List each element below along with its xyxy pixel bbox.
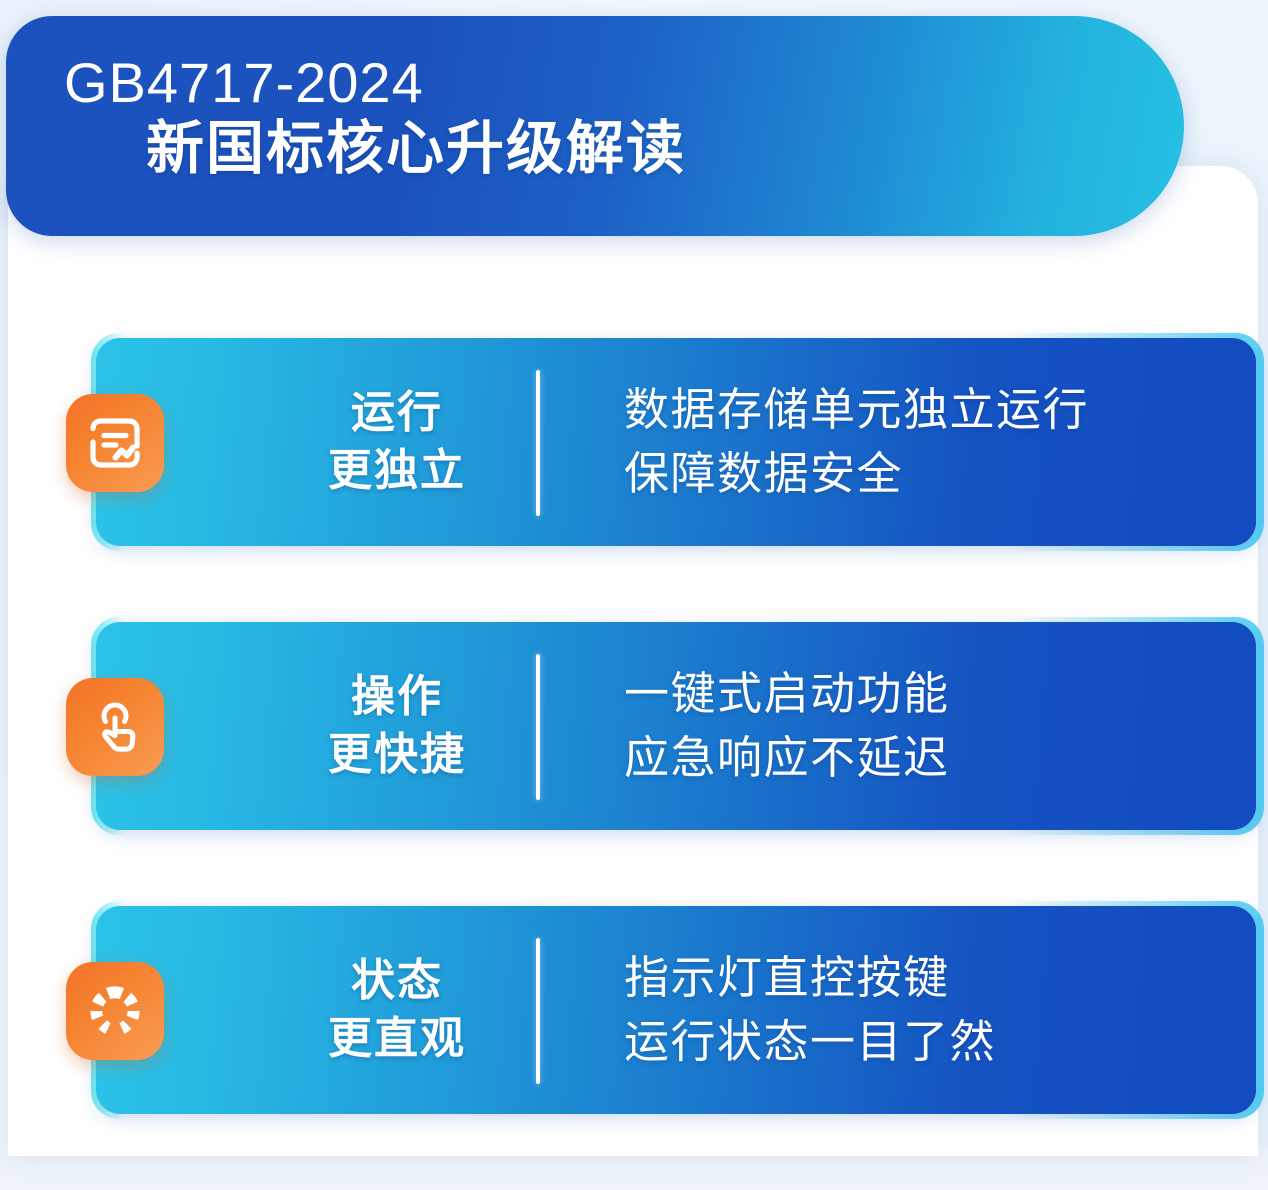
status-ring-icon [66,962,164,1060]
card-label-block: 操作 更快捷 [272,622,522,830]
card-desc-line1: 指示灯直控按键 [624,946,996,1010]
report-chart-icon [66,394,164,492]
card-description-block: 指示灯直控按键 运行状态一目了然 [624,906,996,1114]
feature-card-item: 状态 更直观 指示灯直控按键 运行状态一目了然 [0,906,1268,1114]
feature-card[interactable]: 状态 更直观 指示灯直控按键 运行状态一目了然 [96,906,1256,1114]
card-description-block: 数据存储单元独立运行 保障数据安全 [624,338,1089,546]
card-label-block: 状态 更直观 [272,906,522,1114]
feature-card-item: 操作 更快捷 一键式启动功能 应急响应不延迟 [0,622,1268,830]
standard-code-title: GB4717-2024 [64,54,686,112]
card-label-block: 运行 更独立 [272,338,522,546]
feature-card-list: 运行 更独立 数据存储单元独立运行 保障数据安全 [0,338,1268,1190]
card-desc-line2: 保障数据安全 [624,442,1089,506]
card-desc-line1: 数据存储单元独立运行 [624,378,1089,442]
card-label-line1: 状态 [351,952,443,1010]
card-label-line2: 更直观 [328,1010,466,1068]
card-description-block: 一键式启动功能 应急响应不延迟 [624,622,950,830]
card-desc-line1: 一键式启动功能 [624,662,950,726]
header-banner: GB4717-2024 新国标核心升级解读 [6,16,1184,236]
feature-card[interactable]: 运行 更独立 数据存储单元独立运行 保障数据安全 [96,338,1256,546]
infographic-poster: GB4717-2024 新国标核心升级解读 运行 更独立 数据存储单元独立运行 … [0,0,1268,1148]
card-desc-line2: 应急响应不延迟 [624,726,950,790]
header-subtitle: 新国标核心升级解读 [146,118,686,181]
card-desc-line2: 运行状态一目了然 [624,1010,996,1074]
card-label-line1: 操作 [351,668,443,726]
card-label-line2: 更独立 [328,442,466,500]
tap-hand-icon [66,678,164,776]
card-label-line2: 更快捷 [328,726,466,784]
card-label-line1: 运行 [351,384,443,442]
feature-card-item: 运行 更独立 数据存储单元独立运行 保障数据安全 [0,338,1268,546]
feature-card[interactable]: 操作 更快捷 一键式启动功能 应急响应不延迟 [96,622,1256,830]
card-divider [536,938,540,1084]
header-text-block: GB4717-2024 新国标核心升级解读 [64,54,686,181]
card-divider [536,654,540,800]
card-divider [536,370,540,516]
